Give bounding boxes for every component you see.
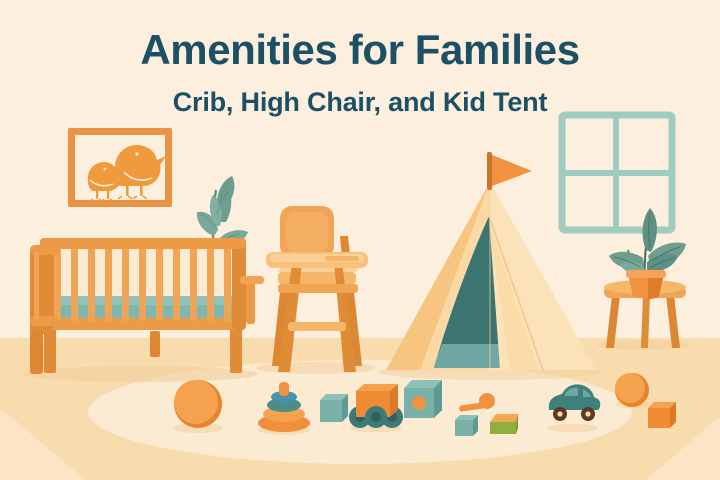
toy-block-orange [648, 402, 676, 428]
toy-block-teal-small [320, 394, 348, 422]
toy-truck [349, 384, 403, 432]
bird-picture-frame [68, 128, 172, 207]
toy-ball-large [173, 380, 223, 433]
poster-canvas: Amenities for Families Crib, High Chair,… [0, 0, 720, 480]
toy-ball-small [615, 373, 649, 408]
tent-pole [487, 152, 492, 190]
window [562, 115, 672, 230]
nursery-scene [0, 0, 720, 480]
toy-block-teal-tiny [455, 415, 478, 436]
toy-block-orange-green [490, 414, 518, 434]
toy-block-teal-orange [404, 380, 442, 418]
